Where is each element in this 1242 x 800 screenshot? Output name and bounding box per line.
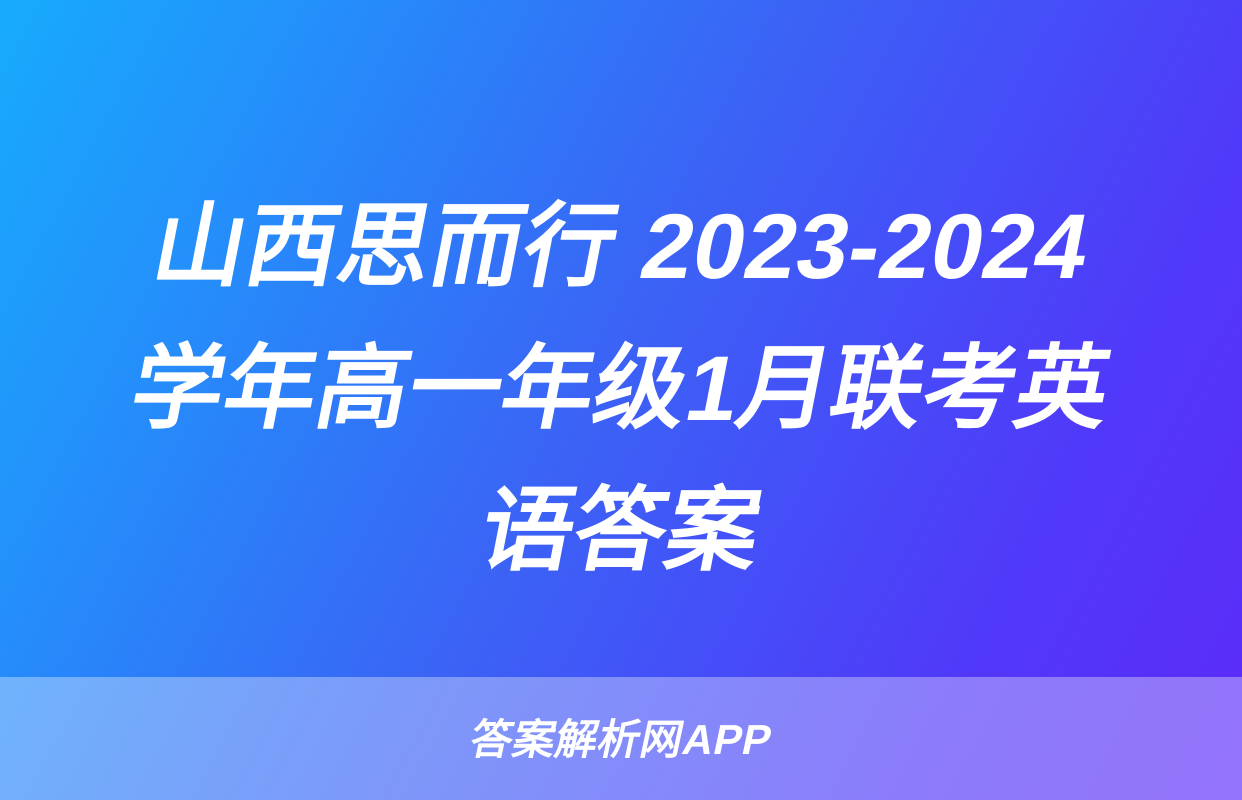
page-title: 山西思而行 2023-2024 学年高一年级1月联考英 语答案 xyxy=(0,176,1242,602)
watermark-label: 答案解析网APP xyxy=(466,719,775,761)
title-line-1: 山西思而行 2023-2024 xyxy=(32,176,1210,318)
title-line-3: 语答案 xyxy=(32,460,1210,602)
watermark-banner: 答案解析网APP xyxy=(0,677,1242,800)
answer-cover-card: 山西思而行 2023-2024 学年高一年级1月联考英 语答案 答案解析网APP xyxy=(0,0,1242,800)
title-line-2: 学年高一年级1月联考英 xyxy=(32,318,1210,460)
